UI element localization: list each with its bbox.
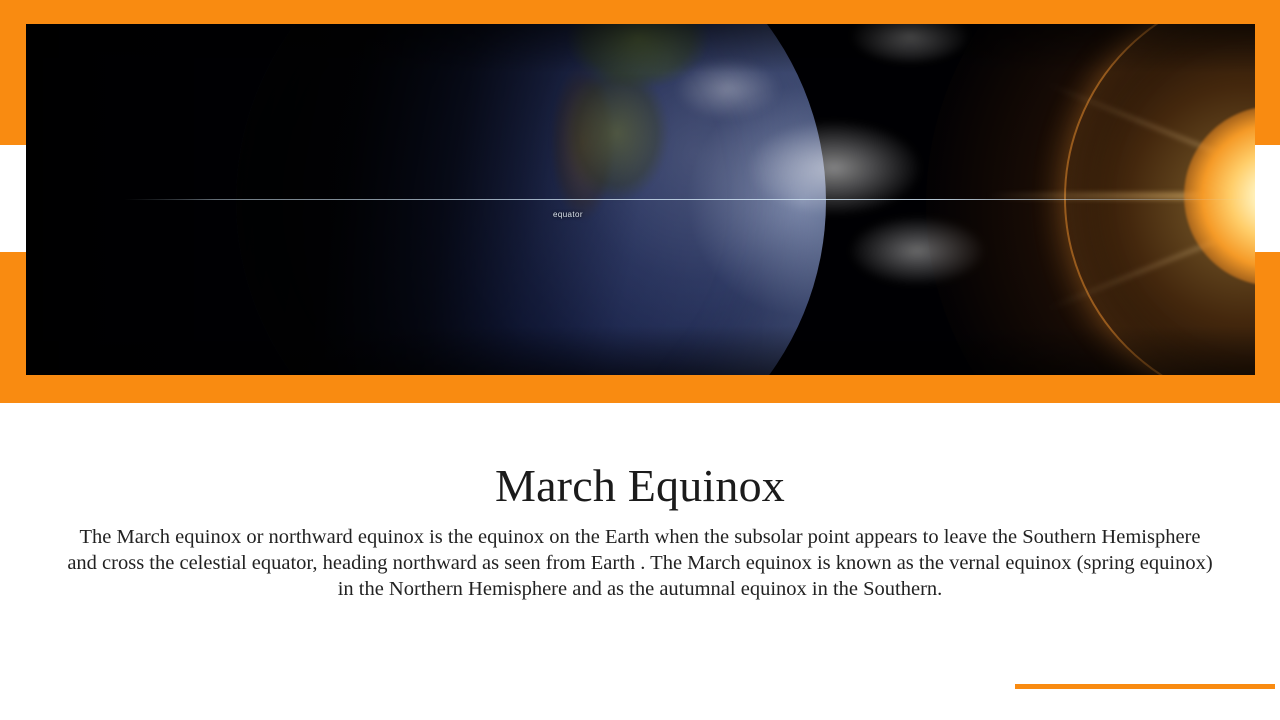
equator-label: equator [553, 210, 583, 219]
slide-content: March Equinox The March equinox or north… [0, 403, 1280, 720]
hero-banner: equator [0, 0, 1280, 403]
equator-line [124, 199, 1255, 200]
body-paragraph: The March equinox or northward equinox i… [65, 524, 1215, 602]
banner-notch-left [0, 145, 26, 252]
hero-photo: equator [26, 24, 1255, 375]
slide-root: equator March Equinox The March equinox … [0, 0, 1280, 720]
page-title: March Equinox [0, 403, 1280, 510]
banner-notch-right [1255, 145, 1280, 252]
accent-rule-bottom-right [1015, 684, 1275, 689]
